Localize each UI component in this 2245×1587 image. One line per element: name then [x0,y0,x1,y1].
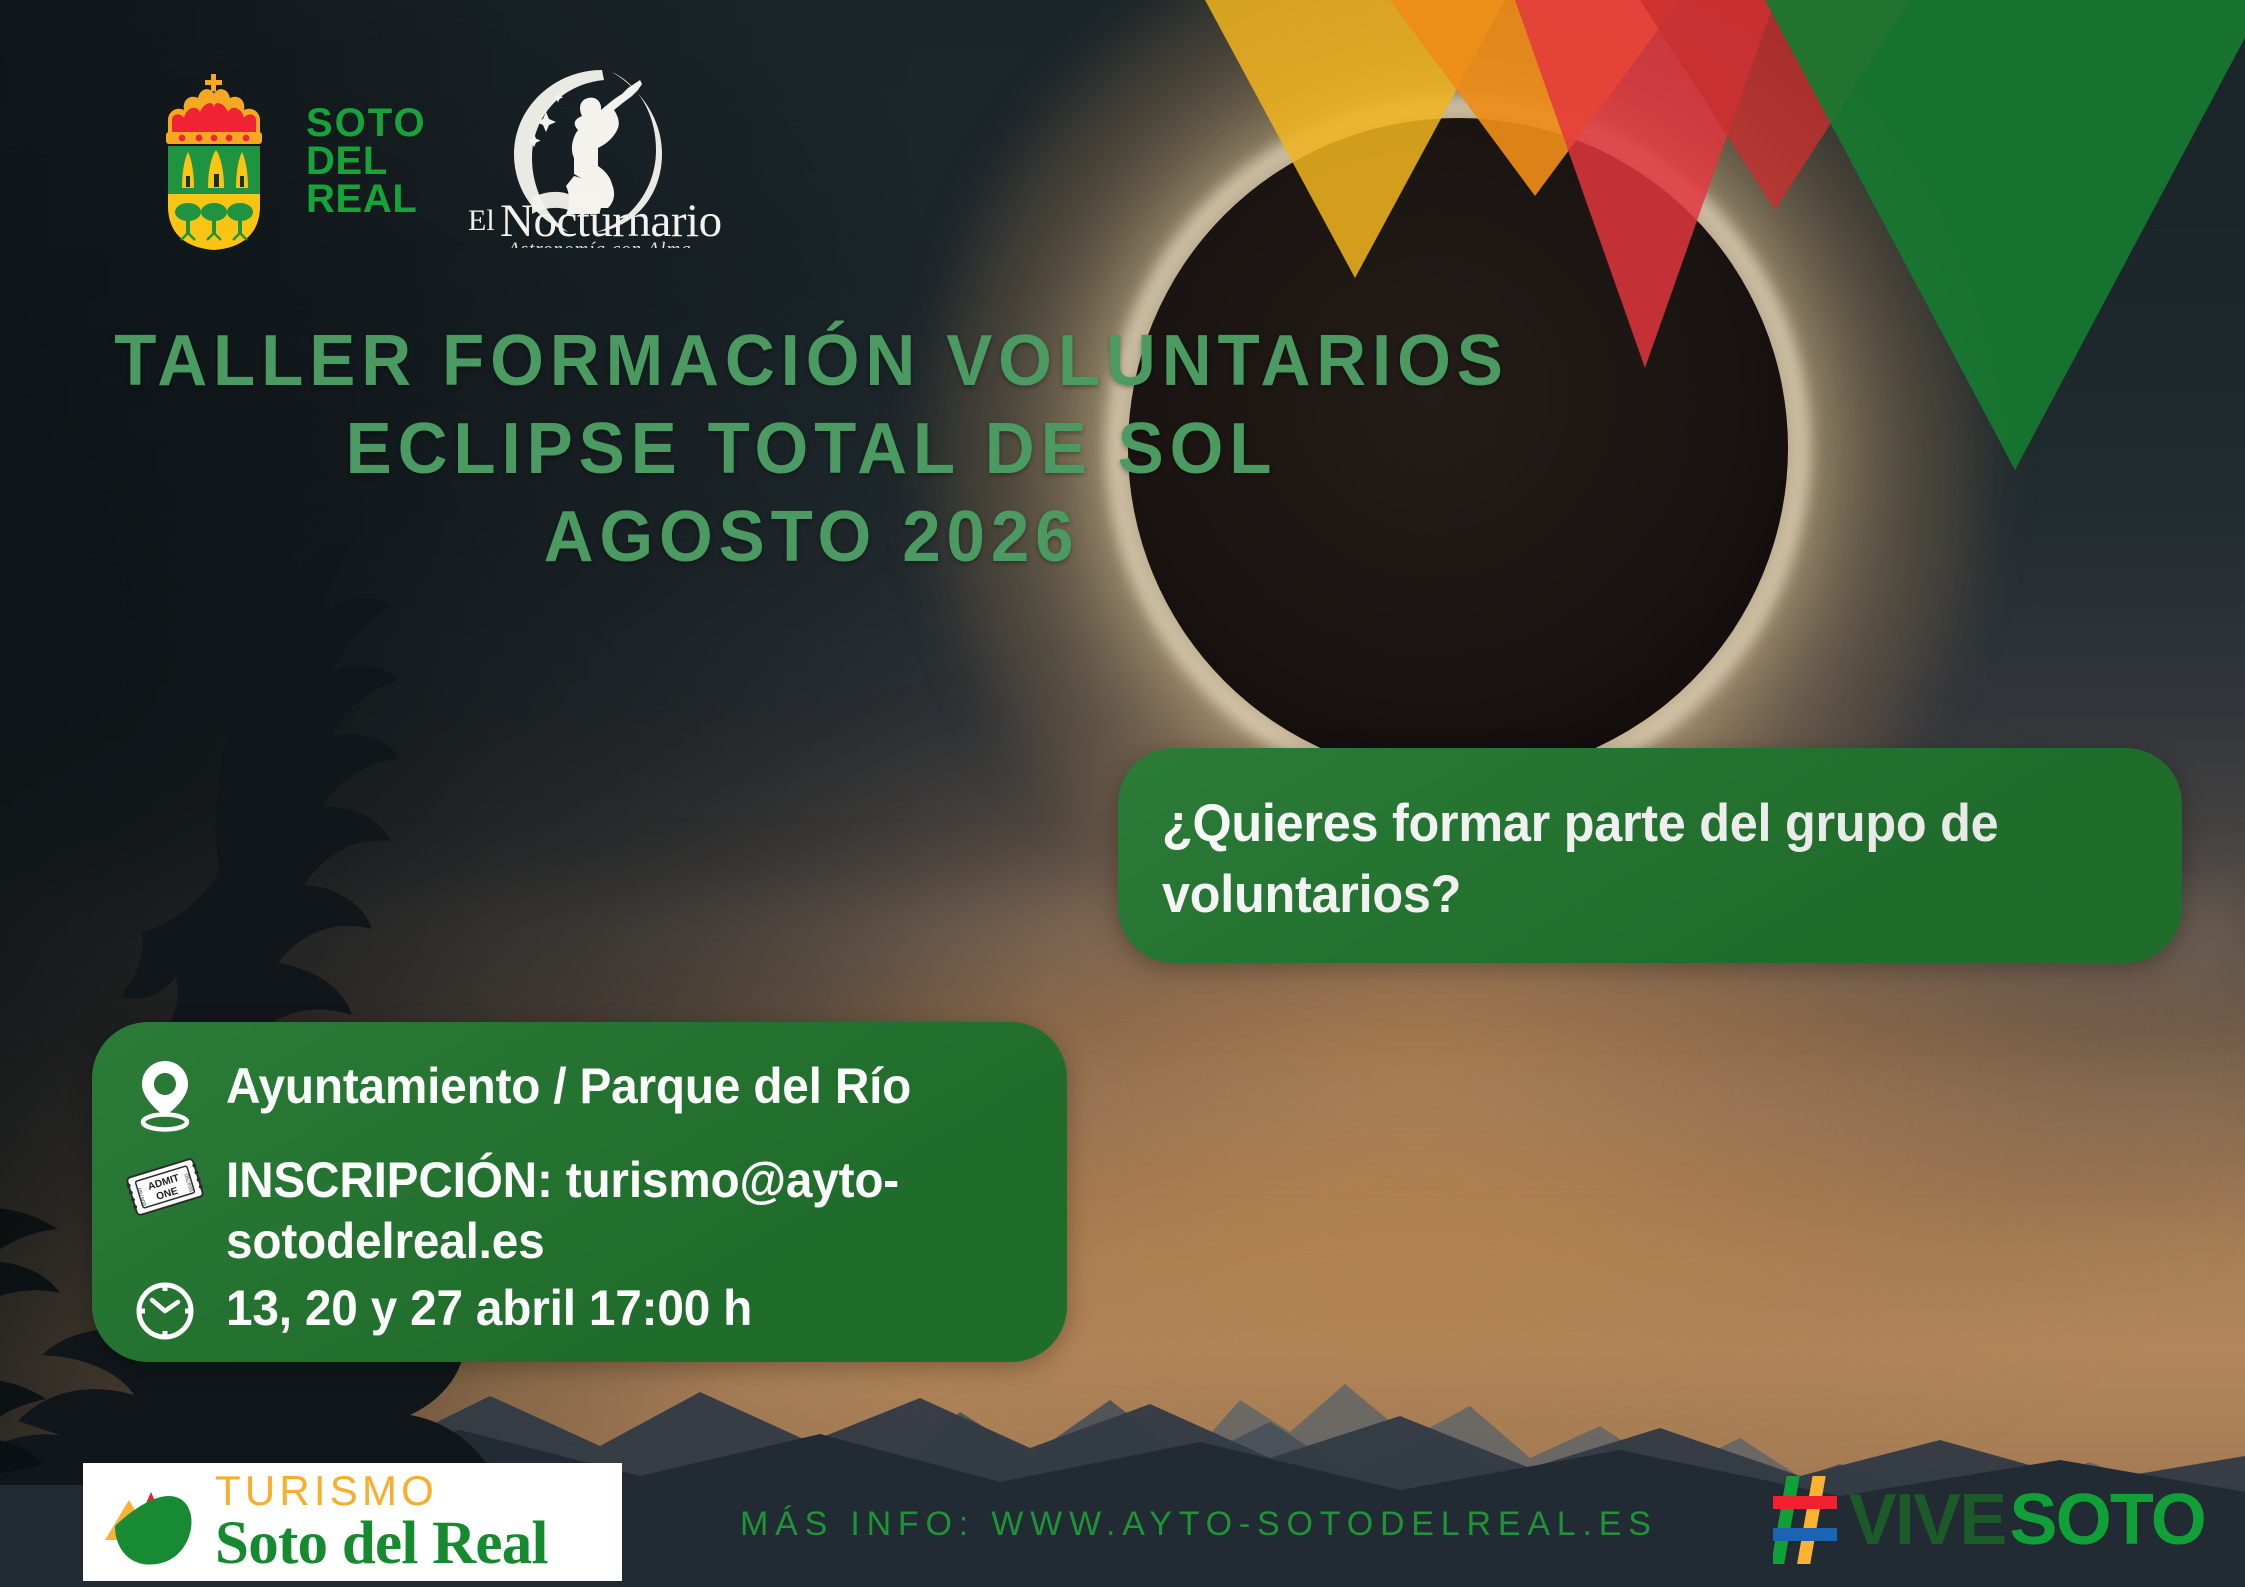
info-row-schedule: 13, 20 y 27 abril 17:00 h [126,1276,1033,1344]
title-line-1: TALLER FORMACIÓN VOLUNTARIOS [32,318,1568,406]
title-line-3: AGOSTO 2026 [32,494,1568,582]
soto-del-real-crest-logo: SOTO DEL REAL [138,70,427,252]
mountain-mark-icon [99,1474,203,1570]
crest-word-del: DEL [306,142,427,180]
header-logos: SOTO DEL REAL [0,0,2245,290]
poster-title-block: TALLER FORMACIÓN VOLUNTARIOS ECLIPSE TOT… [0,318,1600,581]
location-text: Ayuntamiento / Parque del Río [226,1052,911,1117]
hashtag-icon [1773,1474,1845,1566]
crest-word-real: REAL [306,180,427,218]
ticket-icon: ADMIT ONE 604760 604760 [126,1148,204,1220]
coat-of-arms-icon [138,70,290,252]
info-row-location: Ayuntamiento / Parque del Río [126,1052,1033,1132]
poster-root: SOTO DEL REAL [0,0,2245,1587]
vivesoto-hashtag-logo: VIVE SOTO [1773,1474,2205,1566]
turismo-wordmark: TURISMO Soto del Real [215,1470,548,1574]
crest-word-soto: SOTO [306,104,427,142]
info-row-inscription: ADMIT ONE 604760 604760 INSCRIPCIÓN: tur… [126,1148,1033,1272]
question-panel: ¿Quieres formar parte del grupo de volun… [1118,748,2182,963]
turismo-soto-del-real-logo: TURISMO Soto del Real [83,1463,622,1581]
svg-text:Astronomía con Alma: Astronomía con Alma [506,239,692,248]
hashtag-word-vive: VIVE [1849,1484,2006,1556]
clock-icon [126,1276,204,1344]
schedule-text: 13, 20 y 27 abril 17:00 h [226,1276,752,1339]
turismo-bottom-word: Soto del Real [215,1513,548,1574]
question-text: ¿Quieres formar parte del grupo de volun… [1162,788,2089,930]
el-nocturnario-logo: El Nocturnario Astronomía con Alma [462,58,732,248]
turismo-top-word: TURISMO [215,1470,548,1512]
hashtag-word-soto: SOTO [2009,1484,2205,1556]
event-info-panel: Ayuntamiento / Parque del Río ADMIT [92,1022,1067,1362]
location-pin-icon [126,1052,204,1132]
more-info-url: MÁS INFO: WWW.AYTO-SOTODELREAL.ES [740,1505,1658,1544]
title-line-2: ECLIPSE TOTAL DE SOL [32,406,1568,494]
svg-text:El: El [468,204,495,237]
crest-wordmark: SOTO DEL REAL [306,104,427,218]
inscription-text: INSCRIPCIÓN: turismo@ayto-sotodelreal.es [226,1148,997,1272]
